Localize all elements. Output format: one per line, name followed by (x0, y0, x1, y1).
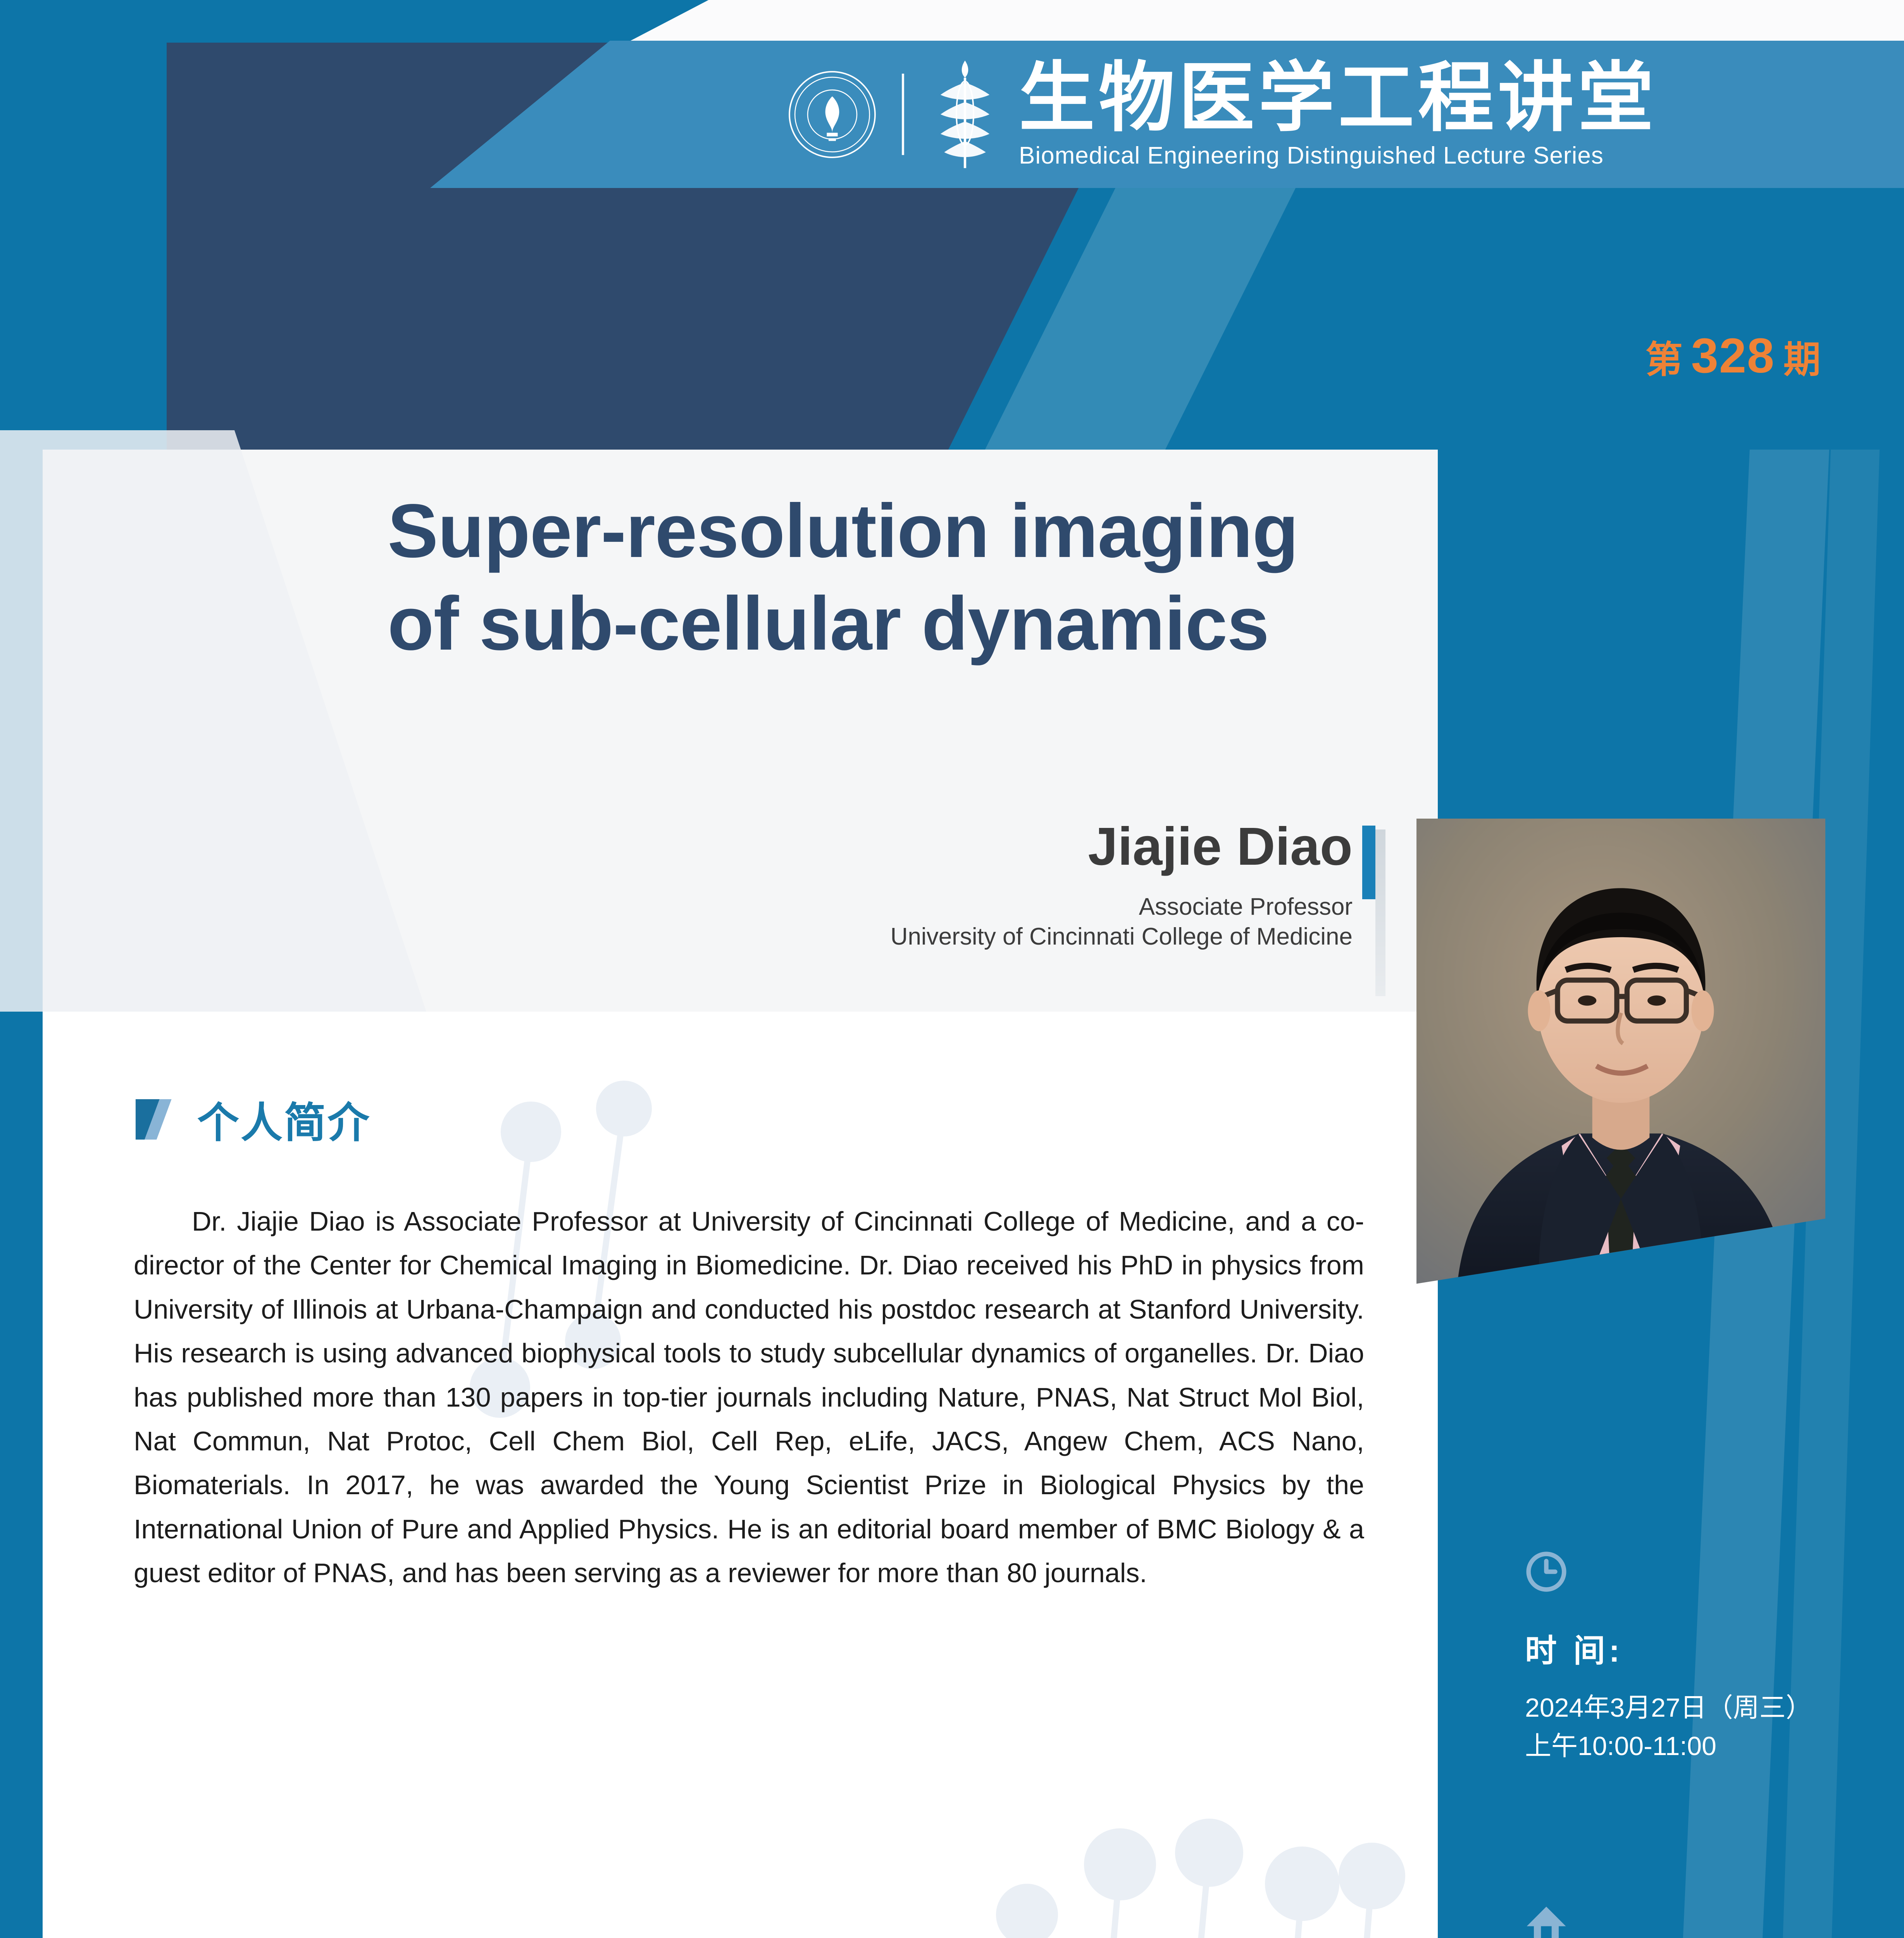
name-accent-bar (1362, 826, 1375, 899)
header-banner: 生物医学工程讲堂 Biomedical Engineering Distingu… (430, 41, 1904, 188)
time-date: 2024年3月27日（周三） (1525, 1689, 1874, 1727)
lecture-poster: 生物医学工程讲堂 Biomedical Engineering Distingu… (0, 0, 1904, 1938)
home-icon (1525, 1903, 1568, 1938)
detail-time: 时 间: 2024年3月27日（周三） 上午10:00-11:00 (1525, 1550, 1874, 1765)
speaker-photo (1416, 819, 1825, 1284)
page-title: Super-resolution imaging of sub-cellular… (388, 484, 1356, 670)
speaker-block: Jiajie Diao Associate Professor Universi… (426, 816, 1353, 950)
issue-number: 328 (1691, 328, 1775, 384)
bio-heading-text: 个人简介 (197, 1089, 371, 1150)
bio-section-heading: 个人简介 (134, 1089, 371, 1150)
time-range: 上午10:00-11:00 (1525, 1727, 1874, 1766)
speaker-name: Jiajie Diao (426, 816, 1353, 878)
speaker-portrait-image (1416, 819, 1825, 1284)
flag-marker-icon (134, 1098, 179, 1141)
university-seal-icon (787, 69, 878, 160)
speaker-affiliation: University of Cincinnati College of Medi… (426, 923, 1353, 950)
bio-paragraph: Dr. Jiajie Diao is Associate Professor a… (134, 1200, 1364, 1595)
detail-place: 地 点: 工学院南楼722会议室 (1525, 1903, 1874, 1938)
issue-suffix: 期 (1783, 329, 1821, 383)
clock-icon (1525, 1550, 1568, 1593)
bme-gear-icon (928, 58, 1002, 171)
series-title-en: Biomedical Engineering Distinguished Lec… (1019, 142, 1658, 169)
issue-prefix: 第 (1646, 329, 1683, 383)
series-title-cn: 生物医学工程讲堂 (1019, 59, 1658, 137)
issue-number-badge: 第 328 期 (1646, 328, 1821, 384)
logo-divider (902, 74, 904, 155)
time-label: 时 间: (1525, 1625, 1874, 1671)
name-accent-shadow (1375, 829, 1385, 996)
speaker-role: Associate Professor (426, 893, 1353, 921)
